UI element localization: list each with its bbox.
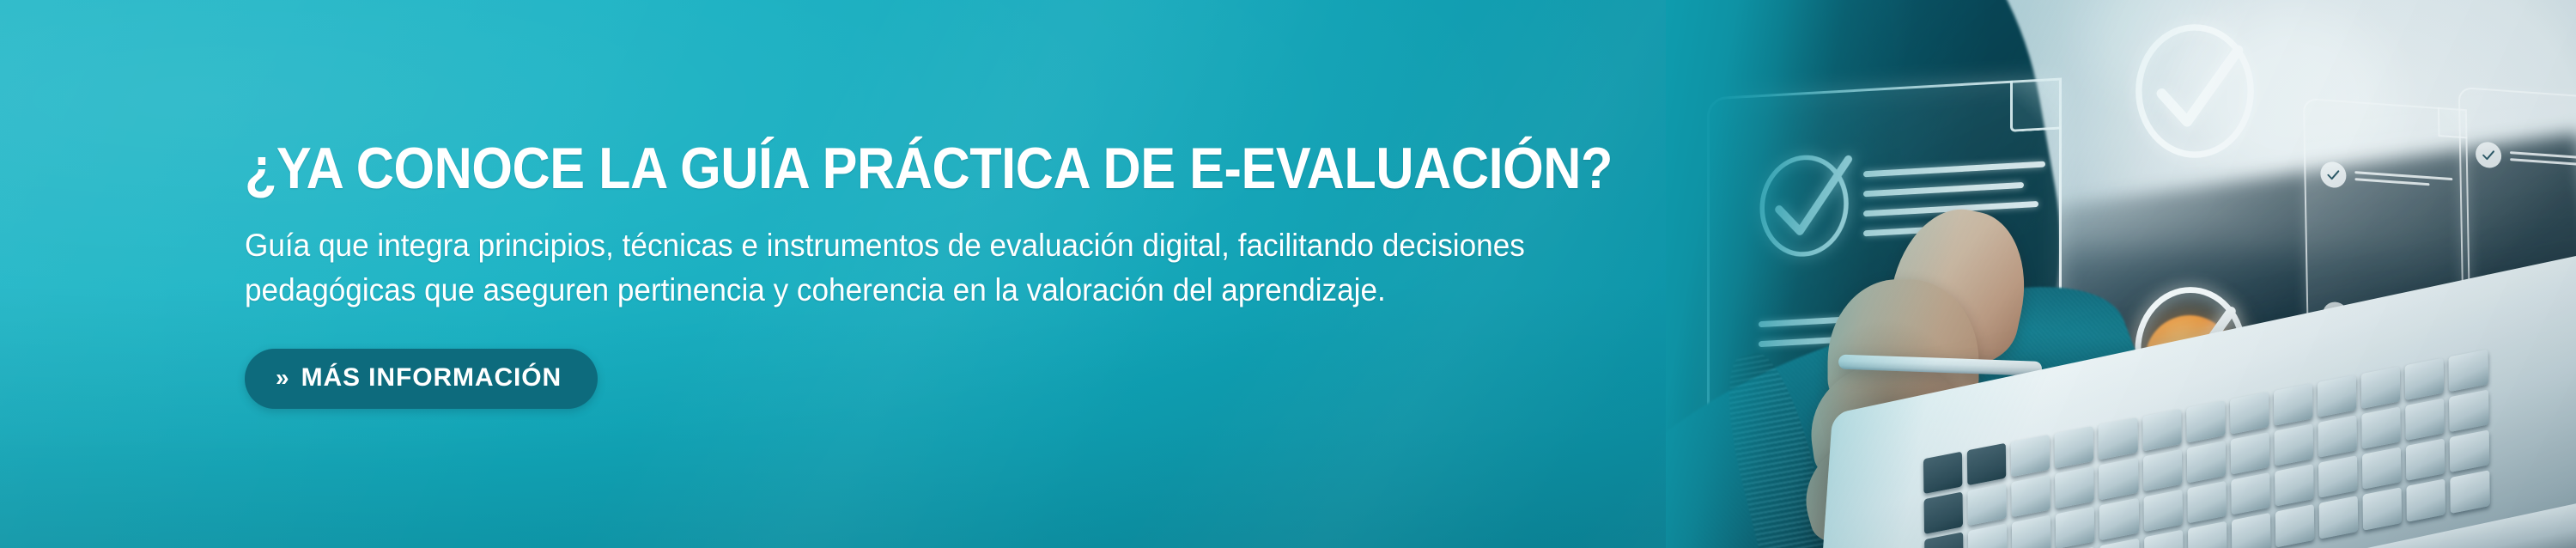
promo-banner: ¿YA CONOCE LA GUÍA PRÁCTICA DE E-EVALUAC…	[0, 0, 2576, 548]
banner-content: ¿YA CONOCE LA GUÍA PRÁCTICA DE E-EVALUAC…	[245, 0, 1722, 548]
banner-description: Guía que integra principios, técnicas e …	[245, 223, 1648, 313]
more-information-label: MÁS INFORMACIÓN	[301, 363, 562, 393]
page-title: ¿YA CONOCE LA GUÍA PRÁCTICA DE E-EVALUAC…	[245, 139, 1574, 198]
cta-container: » MÁS INFORMACIÓN	[245, 349, 1722, 409]
double-chevron-right-icon: »	[276, 366, 286, 390]
more-information-button[interactable]: » MÁS INFORMACIÓN	[245, 349, 598, 409]
photo-edge-fade	[1666, 0, 2576, 548]
hero-photo	[1666, 0, 2576, 548]
